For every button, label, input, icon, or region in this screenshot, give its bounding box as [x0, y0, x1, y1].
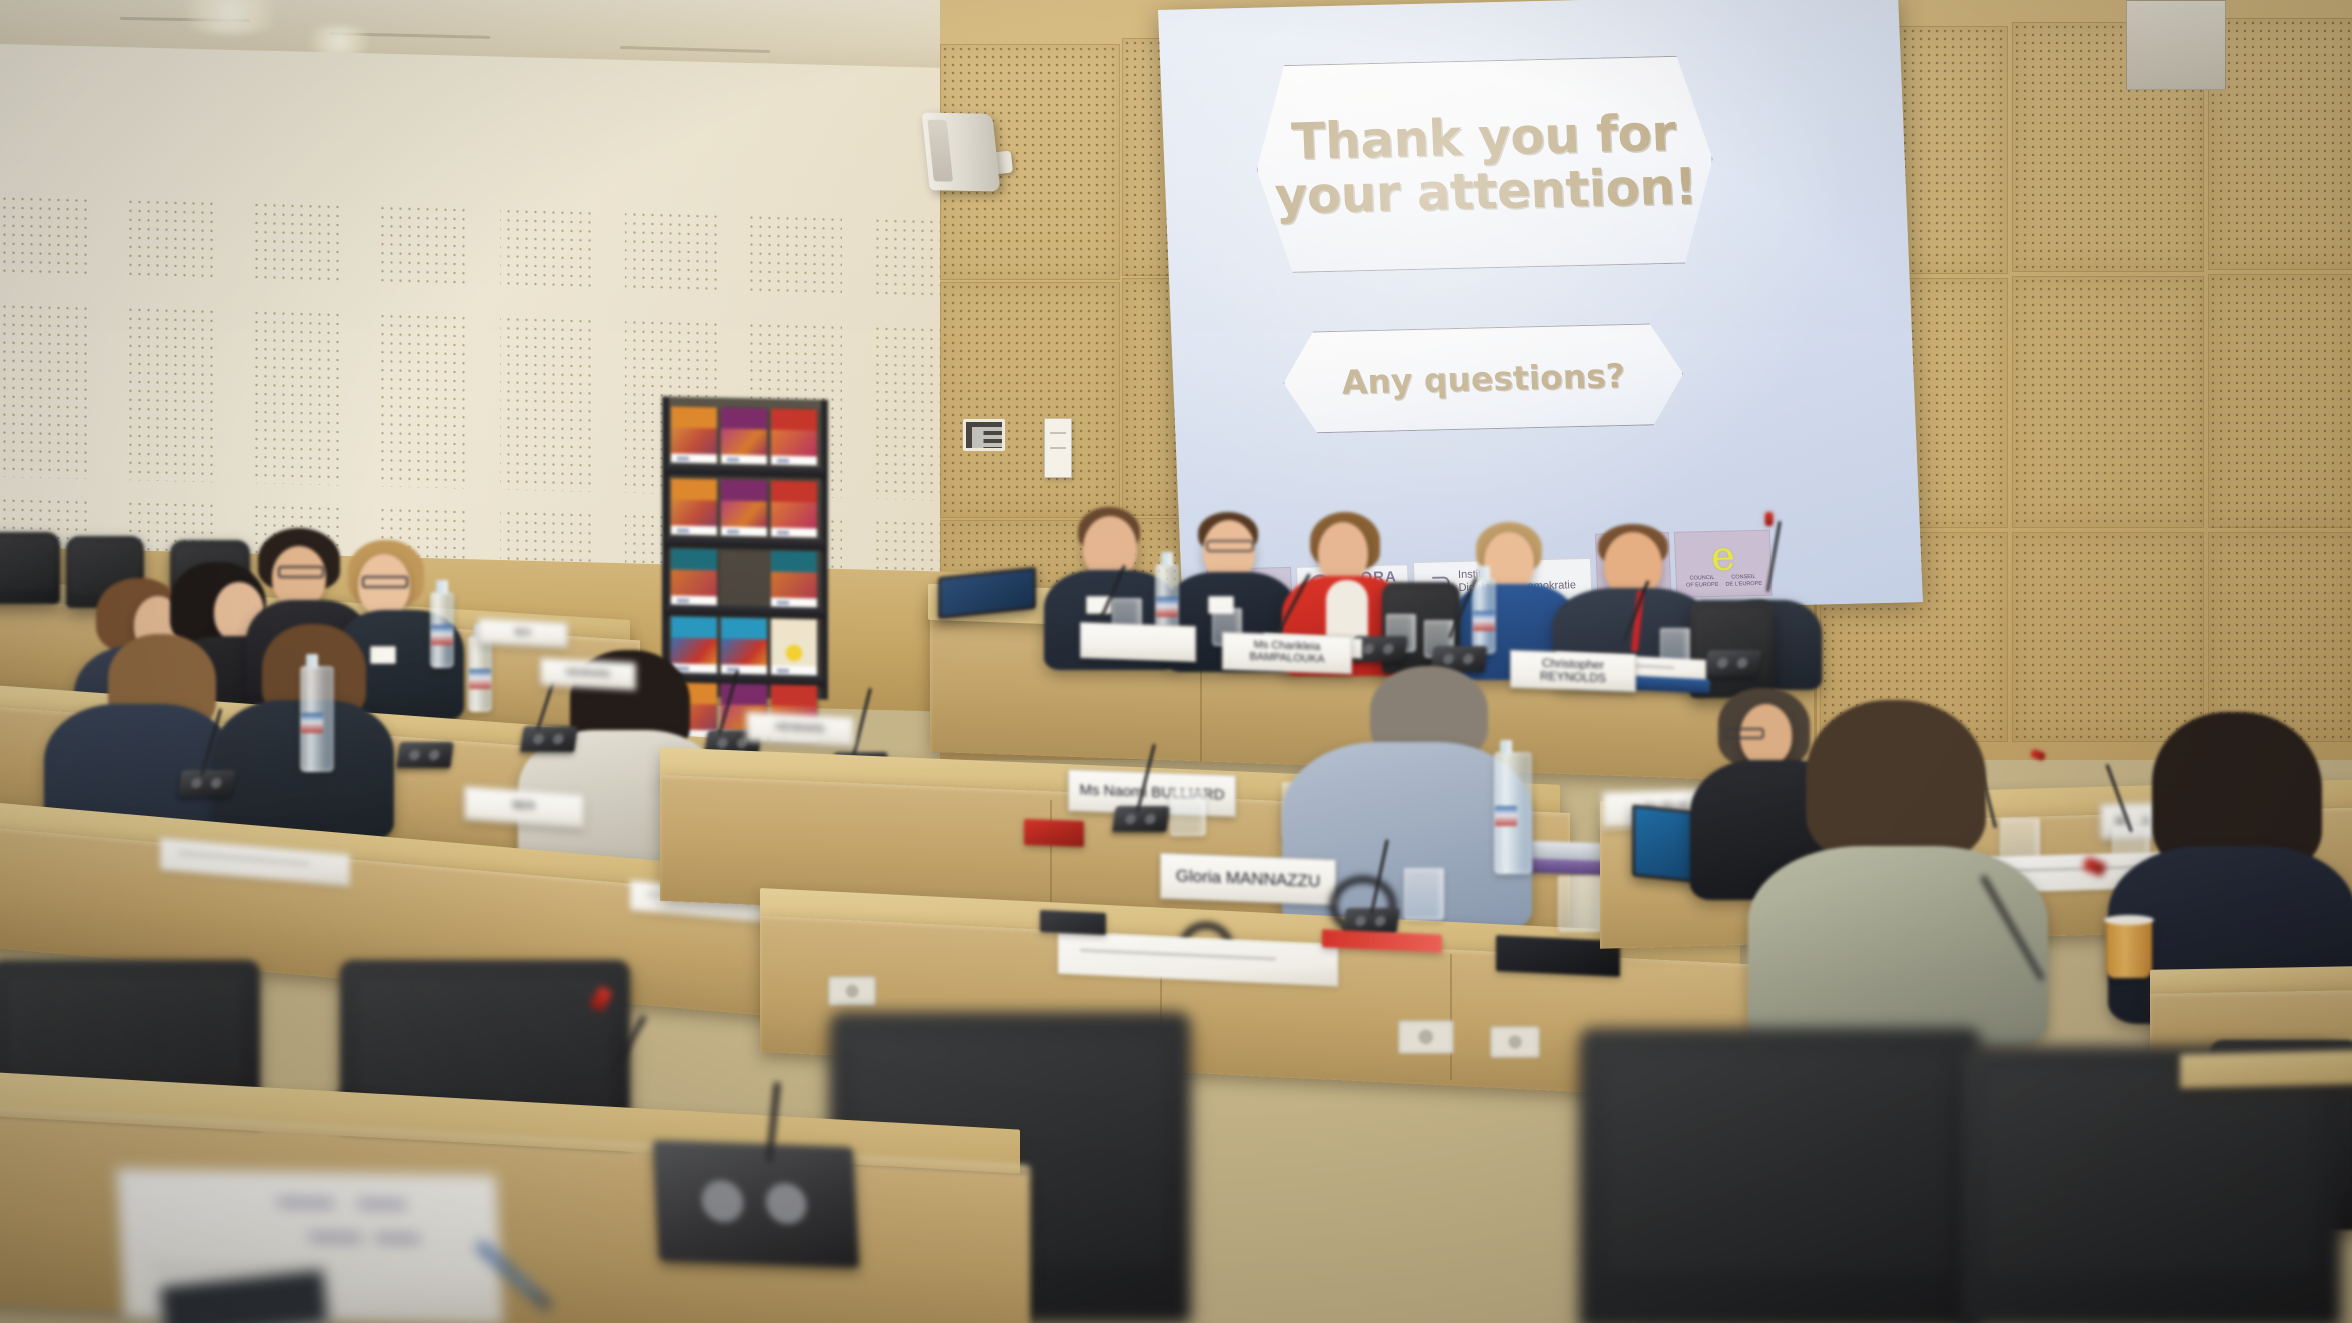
brochure [771, 551, 817, 608]
white-top [1326, 580, 1368, 644]
audience-chair[interactable] [0, 532, 60, 604]
projection-screen: Thank you for your attention! Any questi… [1158, 0, 1923, 619]
foreground-desk-right [2180, 1050, 2352, 1089]
red-stapler[interactable] [1024, 819, 1084, 847]
conference-room-photo: Thank you for your attention! Any questi… [0, 0, 2352, 1323]
av-control-panel[interactable] [963, 419, 1005, 451]
drinking-glass[interactable] [1558, 876, 1602, 932]
coe-e-icon: e [1710, 539, 1735, 574]
brochure [721, 617, 767, 674]
foreground-chair[interactable] [1960, 1046, 2340, 1323]
power-socket[interactable] [1398, 1020, 1454, 1054]
desk-seam [1450, 954, 1452, 1080]
slide-heading-banner: Thank you for your attention! [1252, 55, 1716, 274]
nameplate-audience-left-b: HENRARD [540, 657, 636, 690]
eyeglasses-icon [362, 576, 408, 588]
water-bottle[interactable] [300, 666, 334, 772]
nameplate-panel-1 [1080, 622, 1196, 662]
eyeglasses-icon [278, 566, 324, 578]
drinking-glass[interactable] [1404, 868, 1444, 920]
nameplate-panel-3: ChristopherREYNOLDS [1510, 650, 1636, 692]
desk-seam [1050, 800, 1052, 916]
power-socket[interactable] [1490, 1026, 1540, 1058]
wood-acoustic-panel [2208, 18, 2352, 270]
brochure [671, 478, 717, 535]
brochure [671, 406, 717, 463]
water-bottle[interactable] [1472, 578, 1496, 654]
nameplate-line2: REYNOLDS [1540, 669, 1606, 685]
coe-caption-en-1: COUNCIL [1689, 575, 1714, 582]
room-sign [1044, 418, 1072, 478]
wood-acoustic-panel [2012, 532, 2204, 742]
water-bottle[interactable] [1494, 752, 1532, 874]
nameplate-panel-2: Ms CharikleiaBAMPALOUKA [1222, 632, 1352, 675]
brochure-rack [662, 396, 828, 699]
foreground-chair[interactable] [1580, 1028, 1980, 1323]
slide-content: Thank you for your attention! Any questi… [1158, 0, 1923, 619]
power-socket[interactable] [828, 976, 876, 1006]
brochure [721, 407, 767, 464]
nameplate-gloria-mannazzu: Gloria MANNAZZU [1160, 853, 1336, 906]
nameplate-line2: BAMPALOUKA [1250, 651, 1325, 666]
microphone-tip [1765, 512, 1773, 526]
slide-subheading-banner: Any questions? [1281, 323, 1685, 434]
nameplate-audience-left-a: BER [478, 618, 568, 649]
brochure [671, 548, 717, 605]
nameplate-line1: Gloria MANNAZZU [1176, 867, 1321, 891]
water-bottle[interactable] [430, 592, 454, 668]
wall-speaker [922, 113, 1001, 192]
microphone-base[interactable] [396, 742, 454, 768]
brochure [771, 619, 817, 676]
wood-acoustic-panel [2208, 532, 2352, 742]
microphone-console[interactable] [653, 1140, 859, 1267]
coe-caption-fr-2: DE L'EUROPE [1725, 580, 1762, 587]
wood-acoustic-panel [2208, 274, 2352, 528]
nameplate-audience-left-c: HENRARD [746, 711, 854, 747]
perforation-band [0, 302, 980, 502]
coe-caption-en-2: OF EUROPE [1686, 581, 1719, 588]
brochure [721, 479, 767, 536]
wood-acoustic-panel [2012, 276, 2204, 528]
coe-caption-fr-1: CONSEIL [1731, 574, 1755, 581]
perforation-band [0, 194, 980, 299]
microphone-base[interactable] [1704, 650, 1762, 676]
microphone-base[interactable] [520, 726, 578, 752]
coffee-cup[interactable] [2106, 920, 2152, 978]
slide-heading-line2: your attention! [1274, 159, 1698, 223]
wood-acoustic-panel [940, 282, 1120, 518]
drinking-glass[interactable] [1170, 790, 1206, 836]
eyeglasses-icon [1724, 728, 1764, 739]
eyeglasses-case[interactable] [1040, 910, 1106, 935]
name-badge [370, 646, 396, 664]
brochure [671, 616, 717, 673]
slide-subheading: Any questions? [1341, 356, 1626, 402]
microphone-base[interactable] [1112, 806, 1170, 832]
brochure [771, 481, 817, 538]
brochure [771, 409, 817, 466]
microphone-base[interactable] [178, 770, 236, 796]
council-of-europe-logo: e COUNCILOF EUROPE CONSEILDE L'EUROPE [1674, 530, 1773, 598]
ceiling-air-vent [2126, 0, 2226, 90]
water-bottle[interactable] [468, 636, 492, 712]
coe-captions: COUNCILOF EUROPE CONSEILDE L'EUROPE [1686, 574, 1762, 589]
eyeglasses-icon [1206, 540, 1254, 552]
